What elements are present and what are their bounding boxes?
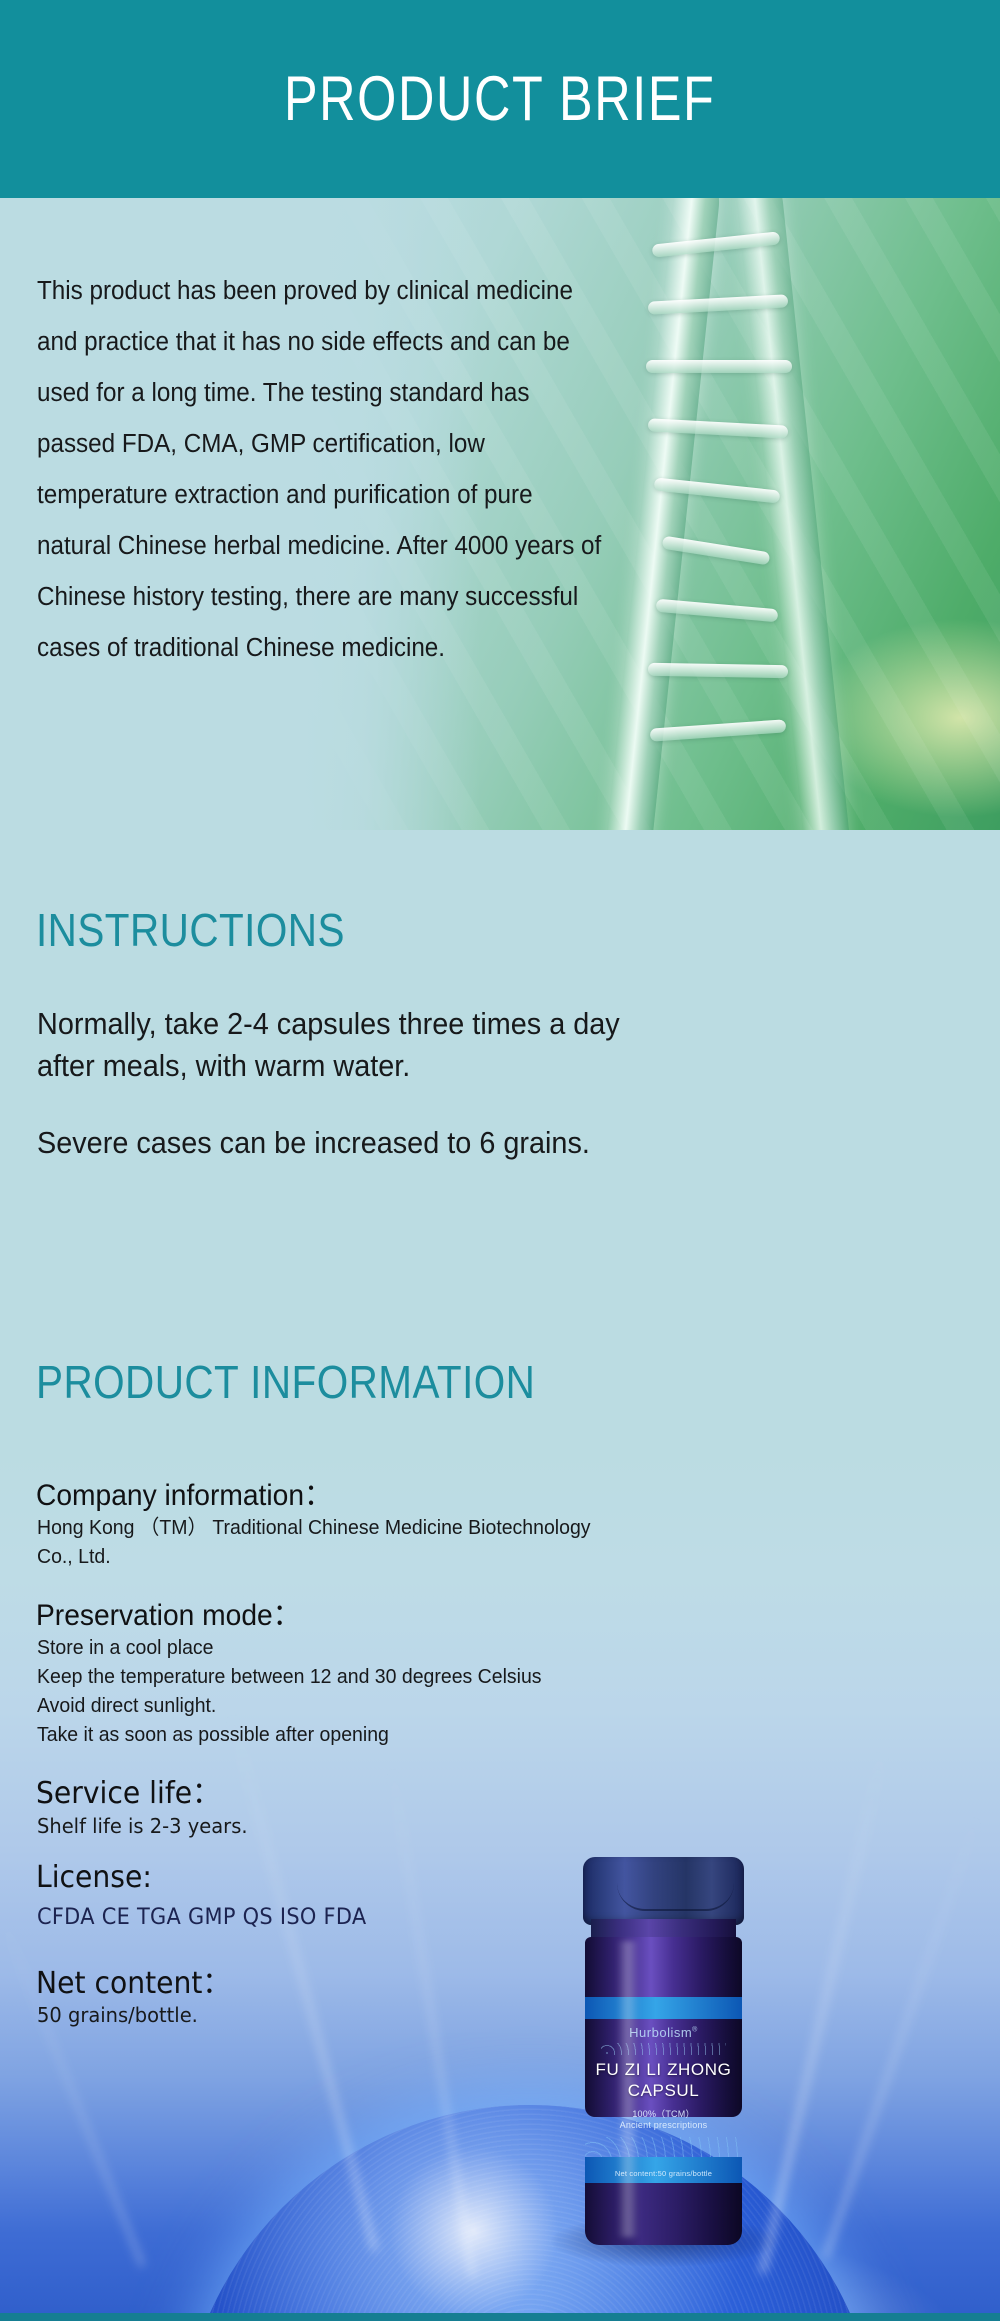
bottle-label: Hurbolism® FU ZI LI ZHONG CAPSUL 100%（TC… bbox=[585, 1997, 742, 2183]
label-net-content: Net content:50 grains/bottle bbox=[585, 2169, 742, 2178]
cap-seam bbox=[617, 1883, 734, 1911]
preservation-line: Take it as soon as possible after openin… bbox=[37, 1720, 626, 1749]
tcm-line2: Ancient prescriptions bbox=[585, 2120, 742, 2131]
bottle-highlight bbox=[617, 1941, 639, 2237]
brand-name: Hurbolism® bbox=[585, 2025, 742, 2040]
dosage-severe-text: Severe cases can be increased to 6 grain… bbox=[37, 1122, 632, 1164]
preservation-line: Avoid direct sunlight. bbox=[37, 1691, 626, 1720]
product-bottle-image: Hurbolism® FU ZI LI ZHONG CAPSUL 100%（TC… bbox=[571, 1857, 756, 2257]
instructions-heading: INSTRUCTIONS bbox=[36, 903, 345, 957]
product-brief-page: PRODUCT BRIEF This product has been prov… bbox=[0, 0, 1000, 2321]
service-life-label: Service life： bbox=[36, 1768, 220, 1812]
registered-mark-icon: ® bbox=[692, 2027, 698, 2034]
page-header: PRODUCT BRIEF bbox=[0, 0, 1000, 198]
preservation-line: Keep the temperature between 12 and 30 d… bbox=[37, 1662, 626, 1691]
intro-paragraph: This product has been proved by clinical… bbox=[37, 266, 607, 674]
company-information-label: Company information： bbox=[36, 1470, 332, 1514]
product-tcm-note: 100%（TCM） Ancient prescriptions bbox=[585, 2109, 742, 2131]
label-top-band bbox=[585, 1997, 742, 2019]
product-name: FU ZI LI ZHONG CAPSUL bbox=[585, 2059, 742, 2101]
preservation-mode-label: Preservation mode： bbox=[36, 1590, 301, 1634]
tcm-line1: 100%（TCM） bbox=[585, 2109, 742, 2120]
net-content-label: Net content： bbox=[36, 1958, 231, 2002]
service-life-value: Shelf life is 2-3 years. bbox=[37, 1812, 493, 1841]
license-value: CFDA CE TGA GMP QS ISO FDA bbox=[37, 1903, 493, 1932]
dosage-normal-text: Normally, take 2-4 capsules three times … bbox=[37, 1003, 632, 1087]
preservation-line: Store in a cool place bbox=[37, 1633, 626, 1662]
page-title: PRODUCT BRIEF bbox=[284, 63, 716, 135]
product-name-line2: CAPSUL bbox=[585, 2080, 742, 2101]
product-information-heading: PRODUCT INFORMATION bbox=[36, 1355, 535, 1409]
bottle-cap bbox=[583, 1857, 744, 1925]
footer-accent-strip bbox=[0, 2313, 1000, 2321]
preservation-mode-list: Store in a cool place Keep the temperatu… bbox=[37, 1633, 626, 1749]
net-content-value: 50 grains/bottle. bbox=[37, 2001, 493, 2030]
bottle-base bbox=[585, 2183, 742, 2245]
product-name-line1: FU ZI LI ZHONG bbox=[585, 2059, 742, 2080]
license-label: License: bbox=[36, 1860, 152, 1895]
company-information-value: Hong Kong （TM） Traditional Chinese Medic… bbox=[37, 1513, 607, 1571]
